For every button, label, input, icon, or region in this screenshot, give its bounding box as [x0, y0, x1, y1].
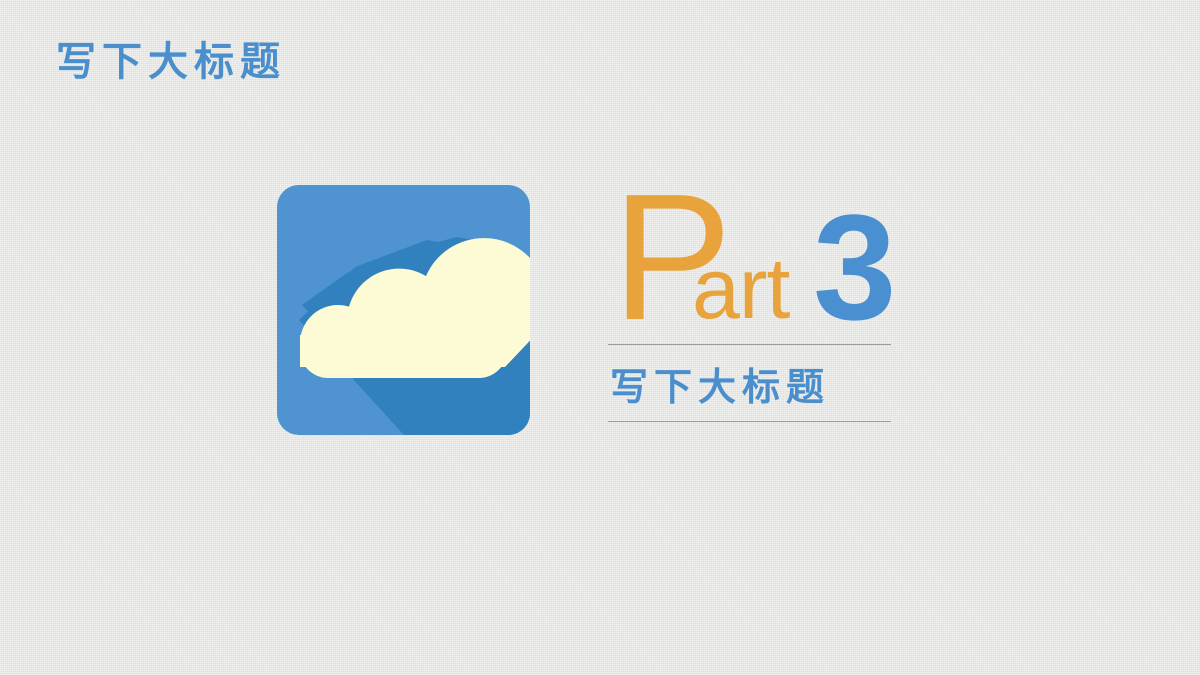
divider-top: [608, 344, 891, 345]
background-texture: [0, 0, 1200, 675]
cloud-icon-svg: [277, 185, 530, 435]
cloud-base: [300, 335, 507, 378]
part-heading-block: P art 3 写下大标题: [608, 186, 908, 422]
part-number: 3: [813, 192, 896, 342]
slide-canvas: 写下大标题 P art: [0, 0, 1200, 675]
divider-bottom: [608, 421, 891, 422]
part-letters-art: art: [692, 246, 789, 332]
page-title: 写下大标题: [56, 38, 286, 86]
cloud-app-icon: [277, 185, 530, 435]
part-title-line: P art 3: [608, 186, 908, 344]
